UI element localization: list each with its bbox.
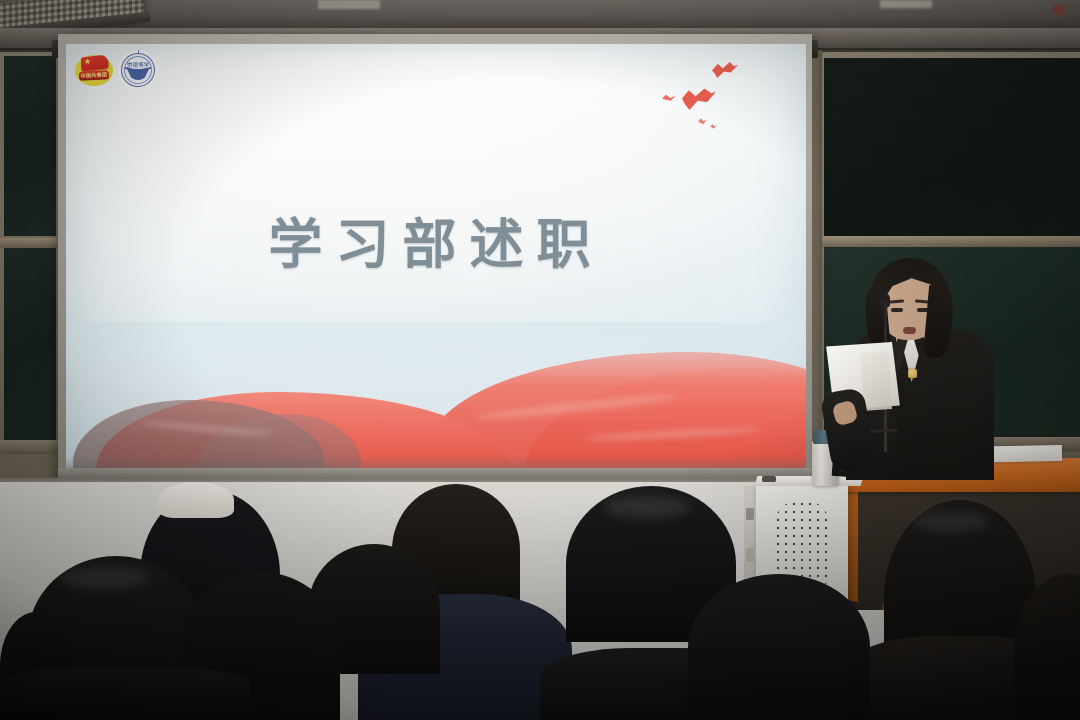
blackboard-left-lower <box>4 248 56 440</box>
audience-head <box>688 574 870 720</box>
ceiling-panel <box>318 0 380 9</box>
bird-icon <box>682 88 716 110</box>
bird-icon <box>698 118 707 125</box>
emblem-label: 崇德博学 <box>118 61 158 69</box>
communist-youth-league-emblem-icon: 中国共青团 <box>74 52 114 88</box>
presenter-mouth <box>903 327 916 334</box>
av-cabinet-knob[interactable] <box>746 508 754 520</box>
mountain-decoration <box>66 322 806 472</box>
blackboard-left-chalk-tray <box>0 440 64 454</box>
bird-icon <box>712 62 738 78</box>
av-cabinet-port <box>762 476 776 482</box>
blackboard-right-rail <box>816 236 1080 247</box>
blackboard-left-rail <box>0 238 62 248</box>
ceiling-panel-secondary <box>880 0 932 8</box>
bird-icon <box>662 94 676 102</box>
cyl-ribbon-label: 中国共青团 <box>80 71 108 80</box>
flying-birds-decoration <box>650 58 770 138</box>
slide-logos: 中国共青团 崇德博学 <box>74 50 158 90</box>
indicator-light <box>1052 4 1065 15</box>
lapel-badge-icon <box>908 369 917 378</box>
slide-title: 学习部述职 <box>66 200 806 279</box>
av-cabinet-knob-secondary[interactable] <box>746 548 754 562</box>
bird-icon <box>710 124 717 129</box>
projection-screen: 中国共青团 崇德博学 学习部述职 <box>66 44 806 472</box>
white-cap <box>158 482 234 518</box>
hair-highlight <box>604 496 690 518</box>
presenter-eye-left <box>891 308 903 312</box>
audience-shoulders <box>0 668 250 720</box>
hair-highlight <box>60 566 150 590</box>
hair-highlight <box>912 512 990 532</box>
school-emblem-icon: 崇德博学 <box>118 50 158 90</box>
classroom-scene: 中国共青团 崇德博学 学习部述职 <box>0 0 1080 720</box>
blackboard-right-upper <box>824 58 1080 236</box>
blackboard-left-upper <box>4 56 56 236</box>
